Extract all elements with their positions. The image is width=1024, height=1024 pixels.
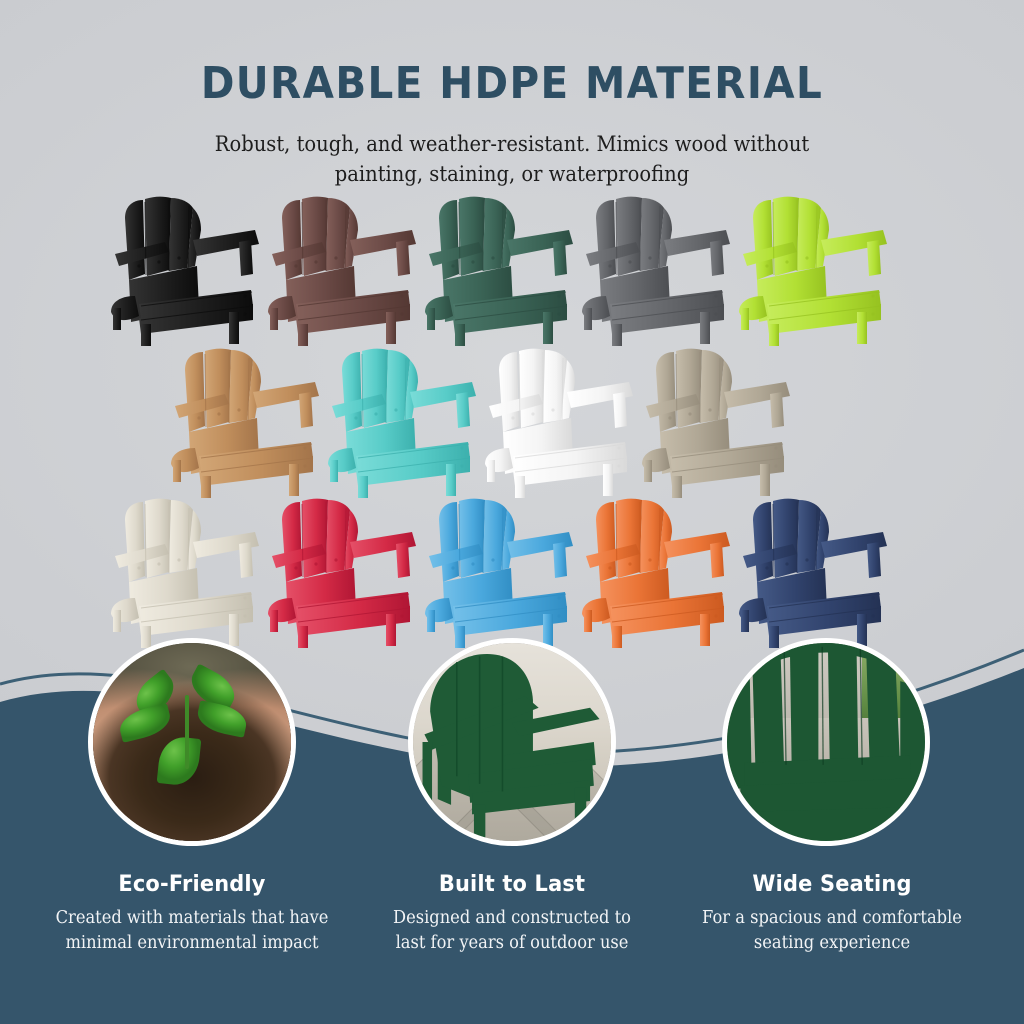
chair-illustration	[419, 196, 579, 346]
chair-body-orange	[576, 498, 736, 648]
chair-swatch-weathered-taupe[interactable]	[636, 348, 796, 498]
feature-caption-built-to-last: Built to Last Designed and constructed t…	[342, 872, 682, 956]
chair-body-brown	[262, 196, 422, 346]
chair-swatch-dark-green[interactable]	[419, 196, 579, 346]
feature-line-2: seating experience	[674, 931, 990, 956]
chair-body-turquoise	[322, 348, 482, 498]
chair-closeup-silhouette	[727, 643, 925, 841]
chair-illustration	[479, 348, 639, 498]
feature-line-2: minimal environmental impact	[34, 931, 350, 956]
chair-body-gray	[576, 196, 736, 346]
chair-body-red	[262, 498, 422, 648]
chair-illustration	[105, 196, 265, 346]
infographic-canvas: DURABLE HDPE MATERIAL Robust, tough, and…	[0, 0, 1024, 1024]
feature-photo-built-to-last	[408, 638, 616, 846]
page-subtitle: Robust, tough, and weather-resistant. Mi…	[36, 129, 988, 190]
chair-swatch-gray[interactable]	[576, 196, 736, 346]
chair-illustration	[419, 498, 579, 648]
photo-green-chair-patio	[413, 643, 611, 841]
chair-swatch-ivory[interactable]	[105, 498, 265, 648]
chair-swatch-red[interactable]	[262, 498, 422, 648]
photo-green-chair-closeup	[727, 643, 925, 841]
subtitle-line-1: Robust, tough, and weather-resistant. Mi…	[36, 129, 988, 159]
chair-illustration	[576, 196, 736, 346]
chair-swatch-orange[interactable]	[576, 498, 736, 648]
chair-photo-silhouette	[413, 643, 611, 841]
subtitle-line-2: painting, staining, or waterproofing	[36, 159, 988, 189]
chair-body-black	[105, 196, 265, 346]
feature-photo-eco-friendly	[88, 638, 296, 846]
feature-heading: Eco-Friendly	[31, 872, 354, 897]
chair-body-dark-green	[419, 196, 579, 346]
chair-illustration	[105, 498, 265, 648]
chair-body-white	[479, 348, 639, 498]
chair-row-1	[0, 196, 1024, 346]
chair-illustration	[576, 498, 736, 648]
chair-body-navy	[733, 498, 893, 648]
chair-illustration	[322, 348, 482, 498]
chair-swatch-navy[interactable]	[733, 498, 893, 648]
feature-photo-wide-seating	[722, 638, 930, 846]
chair-illustration	[733, 498, 893, 648]
chair-body-teak-tan	[165, 348, 325, 498]
chair-swatch-white[interactable]	[479, 348, 639, 498]
chair-illustration	[636, 348, 796, 498]
chair-row-2	[0, 348, 1024, 498]
chair-body-ivory	[105, 498, 265, 648]
feature-line-1: For a spacious and comfortable	[674, 906, 990, 931]
page-title: DURABLE HDPE MATERIAL	[41, 58, 983, 109]
chair-swatch-teak-tan[interactable]	[165, 348, 325, 498]
chair-illustration	[165, 348, 325, 498]
chair-body-lime-green	[733, 196, 893, 346]
feature-caption-eco-friendly: Eco-Friendly Created with materials that…	[22, 872, 362, 956]
chair-swatch-turquoise[interactable]	[322, 348, 482, 498]
photo-hands-soil-seedling	[93, 643, 291, 841]
feature-heading: Built to Last	[351, 872, 674, 897]
feature-line-1: Created with materials that have	[34, 906, 350, 931]
feature-heading: Wide Seating	[671, 872, 994, 897]
chair-illustration	[733, 196, 893, 346]
chair-body-light-blue	[419, 498, 579, 648]
chair-swatch-lime-green[interactable]	[733, 196, 893, 346]
chair-body-weathered-taupe	[636, 348, 796, 498]
chair-illustration	[262, 196, 422, 346]
chair-row-3	[0, 498, 1024, 648]
chair-swatch-brown[interactable]	[262, 196, 422, 346]
chair-illustration	[262, 498, 422, 648]
feature-caption-wide-seating: Wide Seating For a spacious and comforta…	[662, 872, 1002, 956]
chair-swatch-light-blue[interactable]	[419, 498, 579, 648]
feature-line-1: Designed and constructed to	[354, 906, 670, 931]
feature-line-2: last for years of outdoor use	[354, 931, 670, 956]
header: DURABLE HDPE MATERIAL Robust, tough, and…	[0, 0, 1024, 190]
chair-swatch-black[interactable]	[105, 196, 265, 346]
